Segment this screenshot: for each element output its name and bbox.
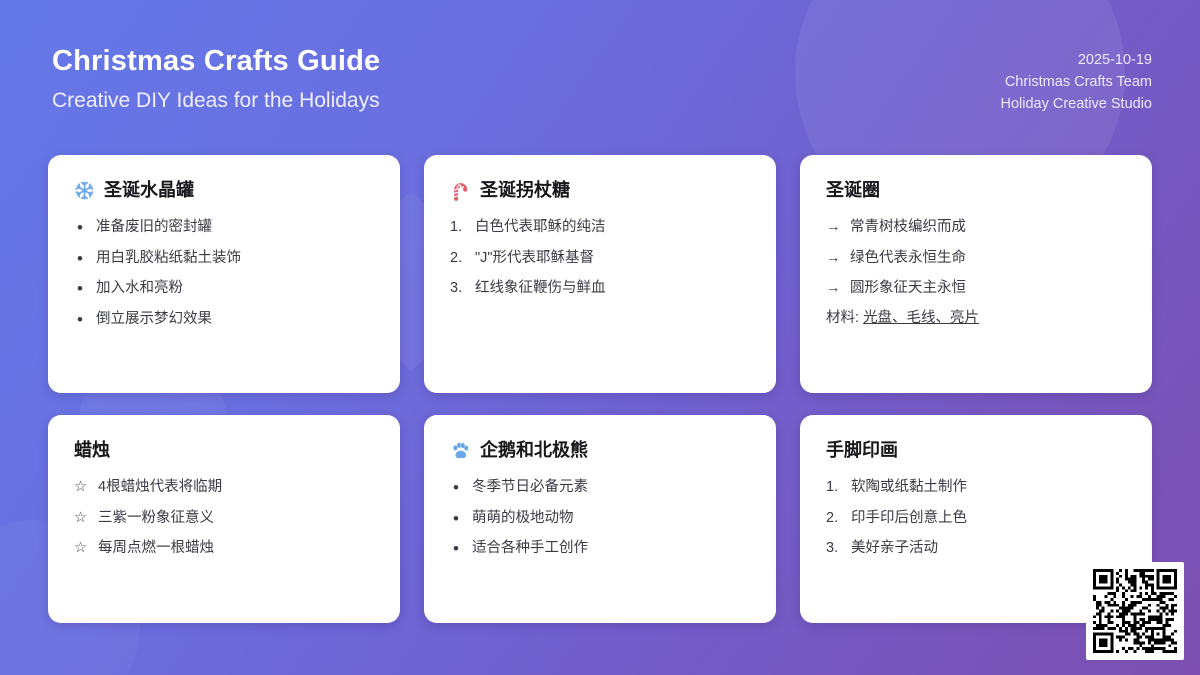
list-item: •倒立展示梦幻效果 (74, 310, 376, 330)
list-item-text: 加入水和亮粉 (96, 279, 376, 299)
list-item: 3.美好亲子活动 (826, 539, 1128, 559)
card-title: 手脚印画 (826, 439, 898, 462)
card-header: 蜡烛 (74, 437, 376, 463)
content-card: 圣诞圈→常青树枝编织而成→绿色代表永恒生命→圆形象征天主永恒材料: 光盘、毛线、… (800, 155, 1152, 393)
list-marker: → (826, 249, 842, 269)
card-header: 圣诞拐杖糖 (450, 177, 752, 203)
content-card: 圣诞水晶罐•准备废旧的密封罐•用白乳胶粘纸黏土装饰•加入水和亮粉•倒立展示梦幻效… (48, 155, 400, 393)
card-item-list: →常青树枝编织而成→绿色代表永恒生命→圆形象征天主永恒 (826, 218, 1128, 299)
list-marker: → (826, 279, 842, 299)
list-marker: • (450, 539, 464, 559)
list-marker: → (826, 218, 842, 238)
list-item-text: 用白乳胶粘纸黏土装饰 (96, 249, 376, 269)
list-item: →绿色代表永恒生命 (826, 249, 1128, 269)
list-item: •准备废旧的密封罐 (74, 218, 376, 238)
list-item: 2.印手印后创意上色 (826, 509, 1128, 529)
list-item-text: 红线象征鞭伤与鲜血 (475, 279, 752, 299)
list-item: 3.红线象征鞭伤与鲜血 (450, 279, 752, 299)
list-item-text: 冬季节日必备元素 (472, 478, 752, 498)
list-item-text: 适合各种手工创作 (472, 539, 752, 559)
content-card: 圣诞拐杖糖1.白色代表耶稣的纯洁2."J"形代表耶稣基督3.红线象征鞭伤与鲜血 (424, 155, 776, 393)
list-marker: 2. (826, 509, 843, 529)
list-item-text: 4根蜡烛代表将临期 (98, 478, 376, 498)
card-item-list: 1.白色代表耶稣的纯洁2."J"形代表耶稣基督3.红线象征鞭伤与鲜血 (450, 218, 752, 299)
list-item: ☆每周点燃一根蜡烛 (74, 539, 376, 559)
list-marker: ☆ (74, 539, 90, 559)
list-item: •适合各种手工创作 (450, 539, 752, 559)
list-marker: • (74, 310, 88, 330)
list-item: •冬季节日必备元素 (450, 478, 752, 498)
list-item-text: 绿色代表永恒生命 (850, 249, 1128, 269)
qr-code[interactable] (1086, 562, 1184, 660)
list-item: →常青树枝编织而成 (826, 218, 1128, 238)
card-header: 企鹅和北极熊 (450, 437, 752, 463)
slide-header: Christmas Crafts Guide Creative DIY Idea… (52, 44, 1152, 130)
card-footnote: 材料: 光盘、毛线、亮片 (826, 309, 1128, 329)
candy-cane-icon (450, 180, 471, 201)
header-meta: 2025-10-19 Christmas Crafts Team Holiday… (1000, 49, 1152, 115)
card-title: 圣诞水晶罐 (104, 179, 194, 202)
list-item: 1.软陶或纸黏土制作 (826, 478, 1128, 498)
list-item: 2."J"形代表耶稣基督 (450, 249, 752, 269)
list-item-text: 印手印后创意上色 (851, 509, 1128, 529)
meta-studio: Holiday Creative Studio (1000, 93, 1152, 115)
paw-print-icon (450, 440, 471, 461)
list-item-text: 倒立展示梦幻效果 (96, 310, 376, 330)
list-item: •加入水和亮粉 (74, 279, 376, 299)
card-grid: 圣诞水晶罐•准备废旧的密封罐•用白乳胶粘纸黏土装饰•加入水和亮粉•倒立展示梦幻效… (48, 155, 1152, 623)
list-item-text: "J"形代表耶稣基督 (475, 249, 752, 269)
page-subtitle: Creative DIY Ideas for the Holidays (52, 88, 1152, 113)
meta-date: 2025-10-19 (1000, 49, 1152, 71)
card-header: 手脚印画 (826, 437, 1128, 463)
list-marker: 3. (826, 539, 843, 559)
card-title: 企鹅和北极熊 (480, 439, 588, 462)
list-item: ☆4根蜡烛代表将临期 (74, 478, 376, 498)
list-item-text: 萌萌的极地动物 (472, 509, 752, 529)
list-item: •萌萌的极地动物 (450, 509, 752, 529)
card-item-list: •准备废旧的密封罐•用白乳胶粘纸黏土装饰•加入水和亮粉•倒立展示梦幻效果 (74, 218, 376, 329)
card-header: 圣诞圈 (826, 177, 1128, 203)
snowflake-icon (74, 180, 95, 201)
list-marker: 1. (826, 478, 843, 498)
list-item: →圆形象征天主永恒 (826, 279, 1128, 299)
list-item: ☆三紫一粉象征意义 (74, 509, 376, 529)
list-item-text: 美好亲子活动 (851, 539, 1128, 559)
card-header: 圣诞水晶罐 (74, 177, 376, 203)
list-marker: • (74, 249, 88, 269)
content-card: 蜡烛☆4根蜡烛代表将临期☆三紫一粉象征意义☆每周点燃一根蜡烛 (48, 415, 400, 623)
page-title: Christmas Crafts Guide (52, 44, 1152, 79)
footnote-value: 光盘、毛线、亮片 (863, 310, 979, 326)
list-marker: ☆ (74, 478, 90, 498)
list-marker: 3. (450, 279, 467, 299)
card-item-list: 1.软陶或纸黏土制作2.印手印后创意上色3.美好亲子活动 (826, 478, 1128, 559)
list-item-text: 软陶或纸黏土制作 (851, 478, 1128, 498)
list-marker: • (74, 218, 88, 238)
meta-team: Christmas Crafts Team (1000, 71, 1152, 93)
footnote-label: 材料: (826, 310, 863, 326)
content-card: 企鹅和北极熊•冬季节日必备元素•萌萌的极地动物•适合各种手工创作 (424, 415, 776, 623)
slide-canvas: Christmas Crafts Guide Creative DIY Idea… (0, 0, 1200, 675)
list-item-text: 三紫一粉象征意义 (98, 509, 376, 529)
list-marker: ☆ (74, 509, 90, 529)
card-item-list: •冬季节日必备元素•萌萌的极地动物•适合各种手工创作 (450, 478, 752, 559)
card-title: 蜡烛 (74, 439, 110, 462)
list-marker: • (450, 478, 464, 498)
list-marker: • (74, 279, 88, 299)
list-item-text: 准备废旧的密封罐 (96, 218, 376, 238)
card-title: 圣诞拐杖糖 (480, 179, 570, 202)
list-item-text: 白色代表耶稣的纯洁 (475, 218, 752, 238)
list-item-text: 每周点燃一根蜡烛 (98, 539, 376, 559)
list-marker: 1. (450, 218, 467, 238)
card-title: 圣诞圈 (826, 179, 880, 202)
list-item: •用白乳胶粘纸黏土装饰 (74, 249, 376, 269)
list-marker: 2. (450, 249, 467, 269)
list-item: 1.白色代表耶稣的纯洁 (450, 218, 752, 238)
card-item-list: ☆4根蜡烛代表将临期☆三紫一粉象征意义☆每周点燃一根蜡烛 (74, 478, 376, 559)
list-marker: • (450, 509, 464, 529)
list-item-text: 圆形象征天主永恒 (850, 279, 1128, 299)
list-item-text: 常青树枝编织而成 (850, 218, 1128, 238)
